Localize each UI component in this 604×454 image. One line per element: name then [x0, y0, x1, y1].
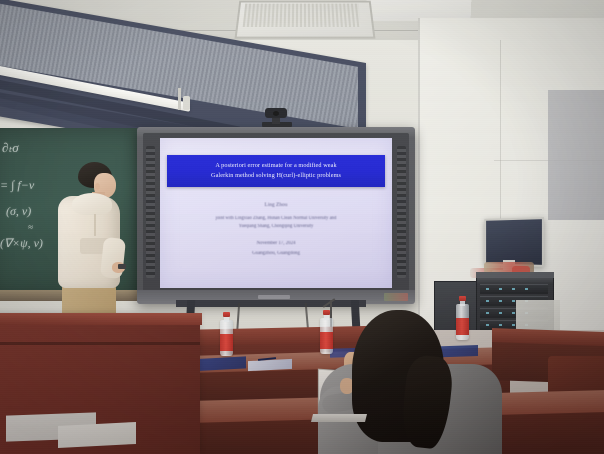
bottle-label [456, 318, 469, 335]
presentation-clicker[interactable] [118, 264, 126, 269]
rack-led-icon [499, 300, 502, 302]
speaker-grille-right-icon [397, 146, 406, 278]
ceiling-light-grill-icon [243, 4, 362, 27]
rack-led-icon [512, 312, 515, 314]
bottle-label [220, 334, 233, 351]
slide-affiliation-line-2: Yueqiang Shang, Chongqing University [160, 224, 392, 229]
slide-date: November 17, 2024 [160, 241, 392, 246]
display-badge [384, 293, 408, 301]
rack-led-icon [525, 288, 528, 290]
light-hanger [178, 88, 181, 110]
chalk-formula: (σ, v) [6, 204, 31, 219]
slide-title-line-2: Galerkin method solving H(curl)-elliptic… [211, 171, 341, 181]
speaker-grille-left-icon [146, 146, 155, 278]
rack-led-icon [512, 324, 515, 326]
slide-author: Ling Zhou [160, 202, 392, 208]
presenter-arm [100, 237, 126, 279]
wall-panel [548, 90, 604, 220]
chalk-formula: ≈ [28, 222, 33, 232]
hood-drawstring [94, 214, 96, 236]
slide-title-line-1: A posteriori error estimate for a modifi… [215, 161, 336, 171]
display-stand-crossbar [176, 300, 366, 307]
rack-led-icon [486, 324, 489, 326]
bottle-cap [459, 296, 466, 301]
wall-corner-edge [418, 18, 420, 348]
rack-led-icon [486, 312, 489, 314]
bottle-label [320, 332, 333, 349]
chalk-formula: ∂ₜσ [2, 140, 19, 156]
rack-top-panel [476, 272, 554, 278]
chalk-formula: = ∫ f−v [0, 178, 34, 193]
camera-lens-icon [273, 111, 279, 116]
presenter-hood [72, 193, 112, 215]
laptop-keyboard-base[interactable] [311, 414, 367, 422]
podium-top [0, 313, 202, 325]
rack-led-icon [499, 288, 502, 290]
bottle-cap [323, 310, 330, 315]
podium-edge [0, 342, 200, 345]
rack-led-icon [499, 324, 502, 326]
slide-location: Guangzhou, Guangdong [160, 251, 392, 256]
presenter-ear [95, 183, 100, 190]
rack-led-icon [512, 300, 515, 302]
rack-led-icon [486, 288, 489, 290]
rack-led-icon [499, 312, 502, 314]
lecture-room-photo: ∂ₜσ= ∫ f−v(σ, v)≈(∇×ψ, v) A posteriori e… [0, 0, 604, 454]
slide-title-banner: A posteriori error estimate for a modifi… [167, 155, 385, 187]
slide-affiliation-line-1: joint with Lingxiao Zhang, Hunan Clean N… [160, 216, 392, 221]
bottle-cap [223, 312, 230, 317]
chalk-formula: (∇×ψ, v) [0, 236, 43, 251]
display-brand-logo [258, 295, 290, 299]
rack-led-icon [486, 300, 489, 302]
light-hanger [183, 96, 190, 110]
rack-led-icon [512, 288, 515, 290]
paper-sheet[interactable] [58, 422, 136, 448]
